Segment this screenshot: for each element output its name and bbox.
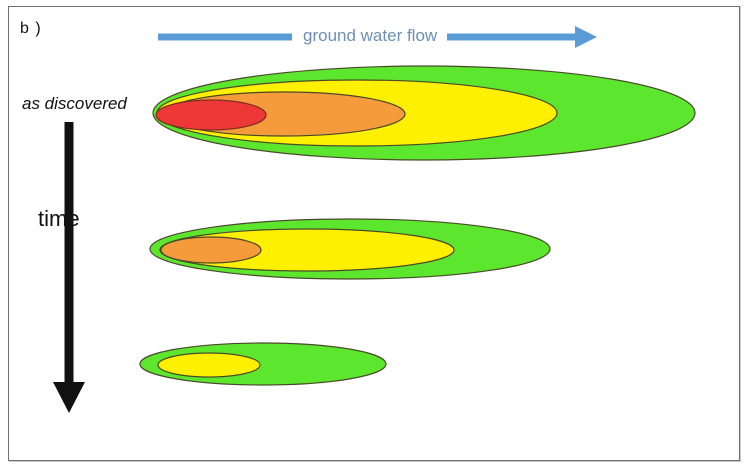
time-arrow-head-icon: [53, 382, 85, 413]
panel-label: b ): [20, 20, 42, 38]
plume2-zone-orange: [161, 237, 261, 263]
flow-arrow-head-icon: [575, 26, 597, 48]
plume-as-discovered: [153, 66, 695, 160]
plume-diagram: [0, 0, 750, 474]
plume-intermediate: [150, 219, 550, 279]
as-discovered-label: as discovered: [22, 94, 127, 114]
plume1-zone-red: [156, 100, 266, 130]
plume-late: [140, 343, 386, 385]
plume3-zone-yellow: [158, 353, 260, 377]
time-axis-label: time: [38, 206, 80, 232]
figure-root: b ) as discovered time ground water flow: [0, 0, 750, 474]
ground-water-flow-label: ground water flow: [303, 26, 437, 46]
time-arrow: [53, 122, 85, 413]
